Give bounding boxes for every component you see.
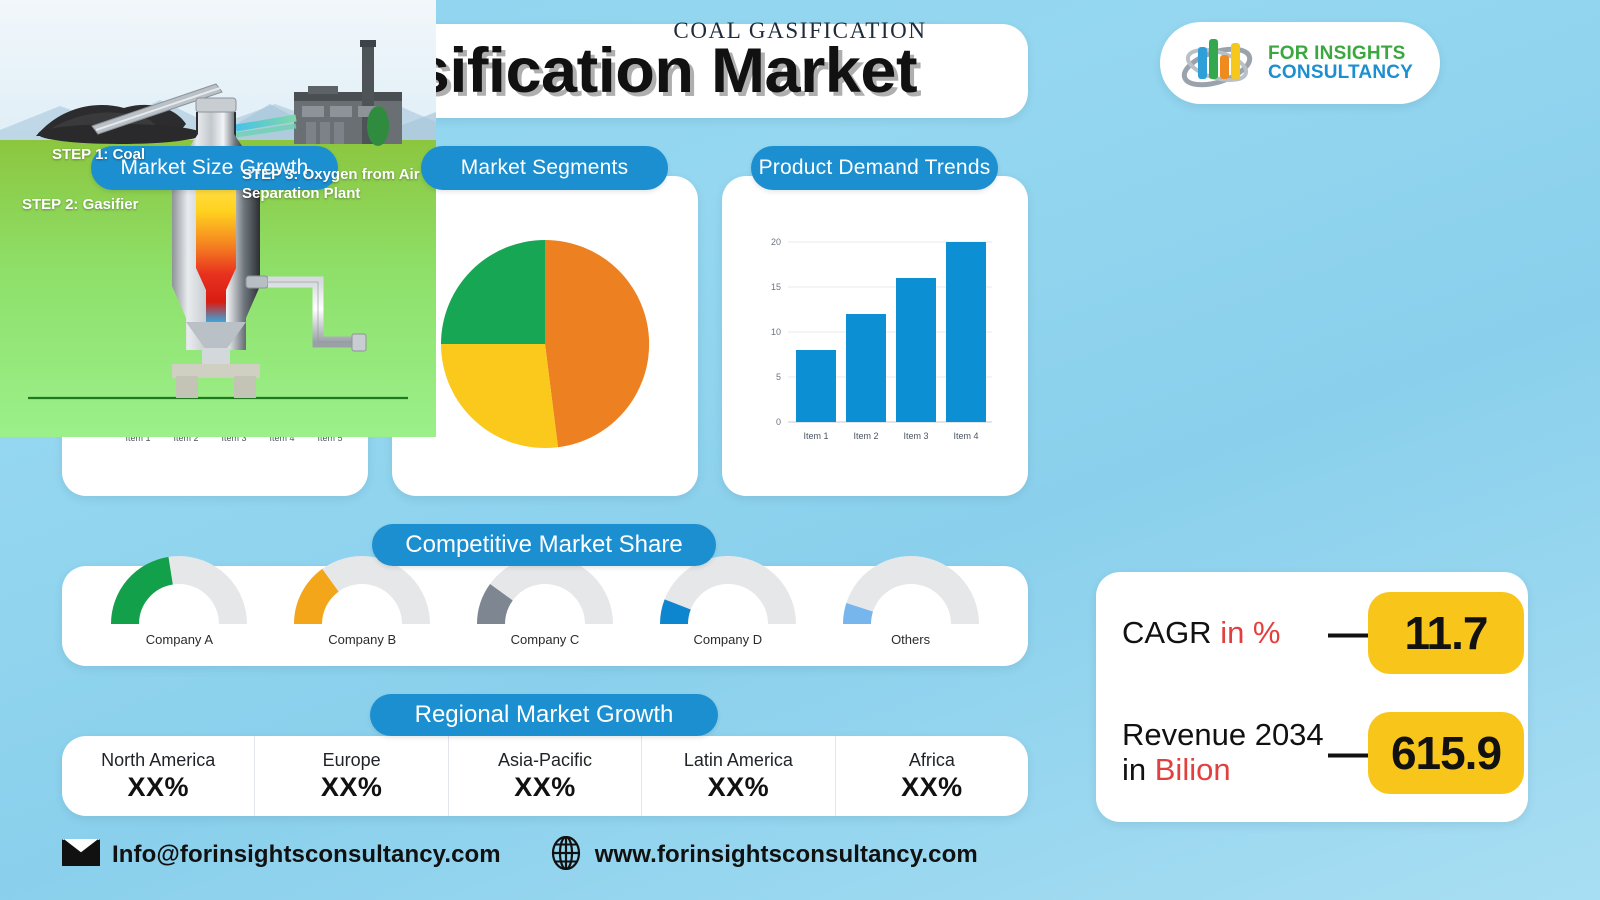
panel-header-product-demand[interactable]: Product Demand Trends — [751, 146, 998, 190]
product-demand-trends-card: 20 15 10 5 0 Item 1 Item 2 Item 3 Item 4 — [722, 176, 1028, 496]
region-name: Europe — [323, 750, 381, 771]
region-value: XX% — [321, 772, 383, 803]
globe-icon — [549, 836, 583, 875]
stat-value-cagr: 11.7 — [1368, 592, 1524, 674]
stat-label-cagr: CAGR in % — [1096, 616, 1328, 651]
illustration-step-3: STEP 3: Oxygen from Air Separation Plant — [242, 166, 430, 204]
market-segments-card — [392, 176, 698, 496]
stat-row-cagr: CAGR in % — 11.7 — [1096, 578, 1528, 688]
gauge-company-b: Company B — [282, 566, 442, 647]
region-name: North America — [101, 750, 215, 771]
coal-gasification-illustration: COAL GASIFICATION STEP 1: Coal STEP 2: G… — [0, 0, 436, 437]
envelope-icon — [62, 839, 100, 871]
pie-chart — [410, 206, 680, 482]
region-value: XX% — [127, 772, 189, 803]
svg-text:20: 20 — [771, 237, 781, 247]
stat-label-unit: in % — [1220, 615, 1280, 650]
gauge-label: Company D — [648, 632, 808, 647]
svg-text:Item 1: Item 1 — [803, 431, 828, 441]
region-value: XX% — [708, 772, 770, 803]
stat-value-revenue: 615.9 — [1368, 712, 1524, 794]
illustration-title: COAL GASIFICATION — [0, 18, 436, 44]
svg-text:Item 3: Item 3 — [903, 431, 928, 441]
stat-row-revenue: Revenue 2034 in Bilion — 615.9 — [1096, 698, 1528, 808]
region-name: Africa — [909, 750, 955, 771]
infographic-canvas: Coal Gasification Market FOR INSIGHTS CO… — [0, 0, 1600, 900]
region-cell-africa: Africa XX% — [836, 736, 1028, 816]
region-cell-north-america: North America XX% — [62, 736, 255, 816]
bar-chart: 20 15 10 5 0 Item 1 Item 2 Item 3 Item 4 — [740, 206, 1010, 482]
stat-label-text: CAGR — [1122, 615, 1220, 650]
gauge-others: Others — [831, 566, 991, 647]
region-name: Asia-Pacific — [498, 750, 592, 771]
stat-label-text: Revenue 2034 — [1122, 717, 1324, 752]
footer-contact-bar: Info@forinsightsconsultancy.com www.fori… — [62, 830, 1062, 880]
stat-label-revenue: Revenue 2034 in Bilion — [1096, 718, 1328, 787]
gauge-label: Company C — [465, 632, 625, 647]
illustration-step-2: STEP 2: Gasifier — [22, 196, 138, 213]
footer-email-text: Info@forinsightsconsultancy.com — [112, 841, 501, 869]
panel-header-regional-growth[interactable]: Regional Market Growth — [370, 694, 718, 736]
logo-line-2: CONSULTANCY — [1268, 63, 1413, 82]
stat-dash: — — [1328, 621, 1368, 645]
region-name: Latin America — [684, 750, 793, 771]
illustration-step-1: STEP 1: Coal — [52, 146, 145, 163]
gauge-company-c: Company C — [465, 566, 625, 647]
footer-email[interactable]: Info@forinsightsconsultancy.com — [62, 839, 501, 871]
svg-text:10: 10 — [771, 327, 781, 337]
region-value: XX% — [901, 772, 963, 803]
logo-wordmark: FOR INSIGHTS CONSULTANCY — [1268, 44, 1413, 83]
regional-market-growth-card: North America XX% Europe XX% Asia-Pacifi… — [62, 736, 1028, 816]
footer-website-text: www.forinsightsconsultancy.com — [595, 841, 978, 869]
key-stats-card: CAGR in % — 11.7 Revenue 2034 in Bilion … — [1096, 572, 1528, 822]
region-cell-asia-pacific: Asia-Pacific XX% — [449, 736, 642, 816]
svg-text:Item 4: Item 4 — [953, 431, 978, 441]
svg-text:15: 15 — [771, 282, 781, 292]
region-value: XX% — [514, 772, 576, 803]
gauge-label: Company B — [282, 632, 442, 647]
footer-website[interactable]: www.forinsightsconsultancy.com — [549, 836, 978, 875]
panel-header-competitive-share[interactable]: Competitive Market Share — [372, 524, 716, 566]
stat-label-unit: Bilion — [1155, 752, 1231, 787]
competitive-market-share-card: Company A Company B Company C — [62, 566, 1028, 666]
svg-text:0: 0 — [776, 417, 781, 427]
gauge-row: Company A Company B Company C — [62, 566, 1028, 666]
stat-dash: — — [1328, 741, 1368, 765]
gauge-label: Others — [831, 632, 991, 647]
svg-text:5: 5 — [776, 372, 781, 382]
region-cell-europe: Europe XX% — [255, 736, 448, 816]
gauge-company-d: Company D — [648, 566, 808, 647]
panel-header-market-segments[interactable]: Market Segments — [421, 146, 668, 190]
gauge-label: Company A — [99, 632, 259, 647]
svg-text:Item 2: Item 2 — [853, 431, 878, 441]
logo-line-1: FOR INSIGHTS — [1268, 44, 1413, 63]
stat-label-prefix: in — [1122, 752, 1155, 787]
gauge-company-a: Company A — [99, 566, 259, 647]
region-cell-latin-america: Latin America XX% — [642, 736, 835, 816]
